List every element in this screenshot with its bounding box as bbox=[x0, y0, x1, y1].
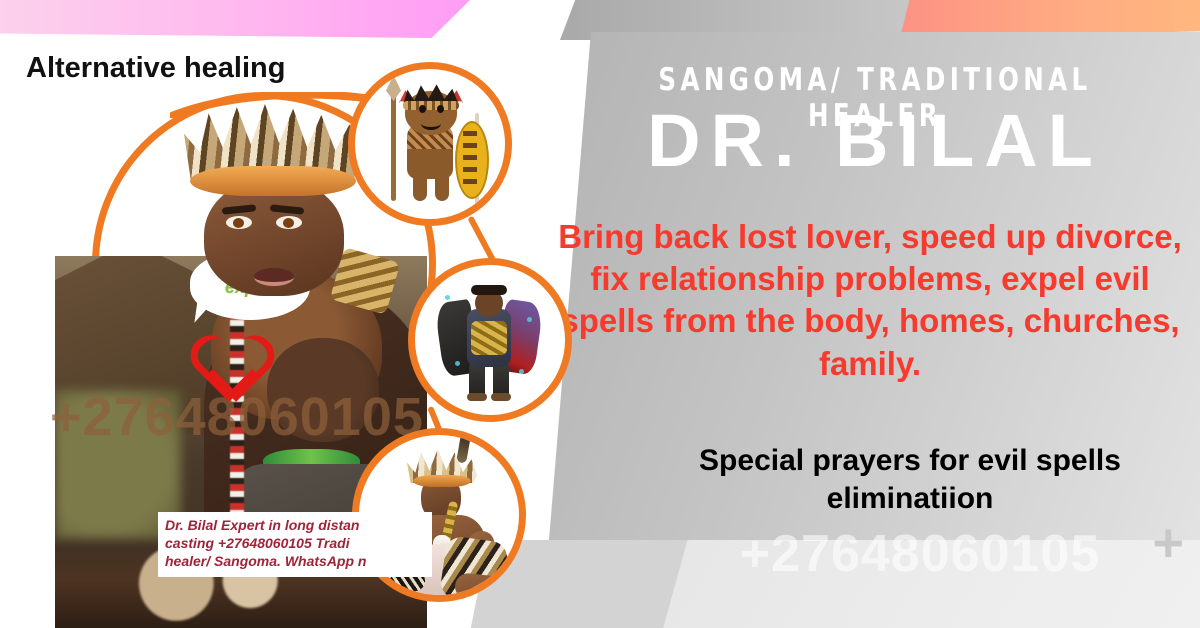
services-text: Bring back lost lover, speed up divorce,… bbox=[546, 216, 1194, 385]
speech-bubble-tail bbox=[194, 299, 213, 325]
circle-cartoon-zulu-warrior bbox=[348, 62, 512, 226]
brand-title: DR. BILAL bbox=[560, 104, 1190, 178]
poster-canvas: + SANGOMA/ TRADITIONAL HEALER DR. BILAL … bbox=[0, 0, 1200, 628]
top-bar-pink bbox=[0, 0, 470, 38]
heart-icon bbox=[196, 336, 262, 396]
photo-caption: Dr. Bilal Expert in long distan casting … bbox=[158, 512, 432, 577]
page-title: Alternative healing bbox=[26, 52, 285, 85]
caption-line-2: casting +27648060105 Tradi bbox=[165, 535, 425, 553]
ghost-phone-watermark: +27648060105 bbox=[640, 524, 1200, 584]
circle-traditional-healer bbox=[408, 258, 572, 422]
caption-line-1: Dr. Bilal Expert in long distan bbox=[165, 517, 425, 535]
caption-line-3: healer/ Sangoma. WhatsApp n bbox=[165, 553, 425, 571]
special-prayers-text: Special prayers for evil spells eliminat… bbox=[630, 442, 1190, 519]
